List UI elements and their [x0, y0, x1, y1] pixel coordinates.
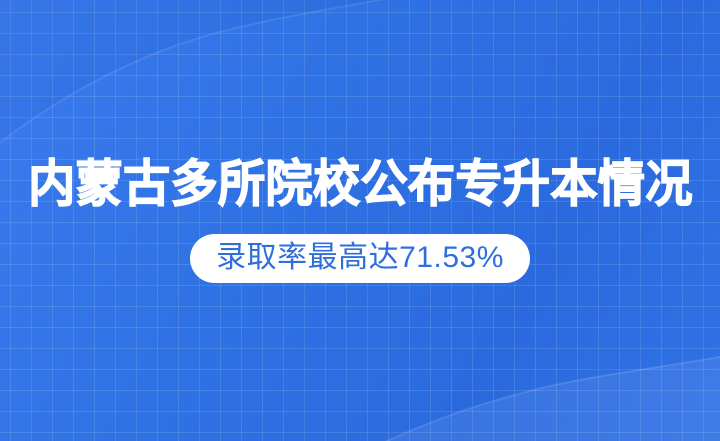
- promo-banner: 内蒙古多所院校公布专升本情况 录取率最高达71.53%: [0, 0, 720, 441]
- subtitle-pill: 录取率最高达71.53%: [190, 234, 530, 283]
- subtitle-text: 录取率最高达71.53%: [216, 243, 504, 273]
- banner-content: 内蒙古多所院校公布专升本情况 录取率最高达71.53%: [0, 0, 720, 441]
- banner-headline: 内蒙古多所院校公布专升本情况: [28, 159, 693, 211]
